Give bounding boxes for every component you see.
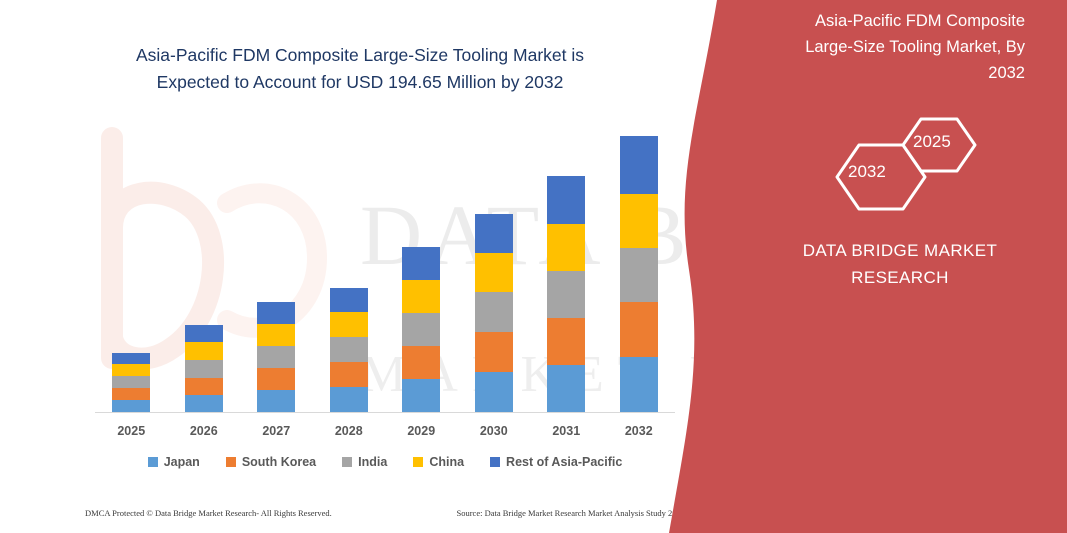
bar-segment bbox=[620, 248, 658, 302]
footer-source: Source: Data Bridge Market Research Mark… bbox=[456, 508, 685, 518]
chart-title-line2: Expected to Account for USD 194.65 Milli… bbox=[60, 69, 660, 96]
x-axis-tick-2030: 2030 bbox=[458, 424, 531, 438]
stacked-bar-2032[interactable] bbox=[620, 136, 658, 412]
legend-label: India bbox=[358, 455, 387, 469]
stacked-bar-2026[interactable] bbox=[185, 325, 223, 412]
hexagon-front-label: 2025 bbox=[913, 132, 951, 152]
bar-segment bbox=[257, 390, 295, 412]
bar-slot bbox=[603, 120, 676, 412]
x-axis-tick-2028: 2028 bbox=[313, 424, 386, 438]
bar-segment bbox=[547, 365, 585, 412]
bar-slot bbox=[458, 120, 531, 412]
x-axis-labels: 20252026202720282029203020312032 bbox=[95, 424, 675, 438]
bar-segment bbox=[330, 362, 368, 387]
x-axis-tick-2026: 2026 bbox=[168, 424, 241, 438]
bar-segment bbox=[620, 302, 658, 357]
chart-title: Asia-Pacific FDM Composite Large-Size To… bbox=[60, 42, 660, 96]
bar-segment bbox=[547, 224, 585, 271]
bar-segment bbox=[547, 271, 585, 318]
legend-label: South Korea bbox=[242, 455, 316, 469]
bar-segment bbox=[257, 324, 295, 346]
x-axis-tick-2032: 2032 bbox=[603, 424, 676, 438]
bar-segment bbox=[475, 332, 513, 372]
bar-segment bbox=[185, 395, 223, 412]
bar-segment bbox=[620, 194, 658, 248]
panel-title: Asia-Pacific FDM Composite Large-Size To… bbox=[735, 8, 1025, 86]
bar-segment bbox=[257, 368, 295, 390]
legend-swatch-icon bbox=[342, 457, 352, 467]
bar-segment bbox=[112, 400, 150, 412]
bar-segment bbox=[475, 214, 513, 253]
panel-title-line1: Asia-Pacific FDM Composite bbox=[735, 8, 1025, 34]
stacked-bar-2025[interactable] bbox=[112, 353, 150, 412]
x-axis-tick-2031: 2031 bbox=[530, 424, 603, 438]
brand-line2: RESEARCH bbox=[755, 264, 1045, 291]
legend-label: China bbox=[429, 455, 464, 469]
bar-slot bbox=[530, 120, 603, 412]
brand-line1: DATA BRIDGE MARKET bbox=[755, 237, 1045, 264]
legend-label: Rest of Asia-Pacific bbox=[506, 455, 622, 469]
legend-item[interactable]: Rest of Asia-Pacific bbox=[490, 455, 622, 469]
bar-segment bbox=[620, 136, 658, 194]
bar-segment bbox=[402, 313, 440, 346]
hexagon-badges: 2032 2025 bbox=[815, 105, 995, 215]
hexagon-outlines-icon bbox=[815, 105, 995, 215]
bar-segment bbox=[112, 353, 150, 364]
bar-slot bbox=[313, 120, 386, 412]
legend-swatch-icon bbox=[148, 457, 158, 467]
bar-segment bbox=[185, 360, 223, 378]
chart-legend: JapanSouth KoreaIndiaChinaRest of Asia-P… bbox=[95, 455, 675, 469]
legend-swatch-icon bbox=[226, 457, 236, 467]
stacked-bar-2029[interactable] bbox=[402, 247, 440, 412]
bar-segment bbox=[112, 388, 150, 400]
x-axis-line bbox=[95, 412, 675, 413]
bar-slot bbox=[95, 120, 168, 412]
stacked-bar-2031[interactable] bbox=[547, 176, 585, 412]
bar-segment bbox=[475, 292, 513, 332]
bar-segment bbox=[475, 253, 513, 292]
chart-title-line1: Asia-Pacific FDM Composite Large-Size To… bbox=[60, 42, 660, 69]
brand-name: DATA BRIDGE MARKET RESEARCH bbox=[755, 237, 1045, 291]
bar-segment bbox=[330, 312, 368, 337]
x-axis-tick-2025: 2025 bbox=[95, 424, 168, 438]
bar-segment bbox=[402, 247, 440, 280]
bar-slot bbox=[240, 120, 313, 412]
panel-title-line3: 2032 bbox=[735, 60, 1025, 86]
bar-segment bbox=[185, 378, 223, 395]
bar-segment bbox=[257, 302, 295, 324]
bar-segment bbox=[402, 346, 440, 379]
bar-segment bbox=[402, 379, 440, 412]
bar-segment bbox=[112, 364, 150, 376]
footer-copyright: DMCA Protected © Data Bridge Market Rese… bbox=[85, 508, 332, 518]
legend-item[interactable]: South Korea bbox=[226, 455, 316, 469]
legend-item[interactable]: Japan bbox=[148, 455, 200, 469]
bar-segment bbox=[547, 318, 585, 365]
bar-segment bbox=[475, 372, 513, 412]
bar-segment bbox=[185, 325, 223, 342]
bar-segment bbox=[330, 387, 368, 412]
footer: DMCA Protected © Data Bridge Market Rese… bbox=[85, 508, 685, 518]
stacked-bar-2027[interactable] bbox=[257, 302, 295, 412]
legend-label: Japan bbox=[164, 455, 200, 469]
stacked-bar-2030[interactable] bbox=[475, 214, 513, 412]
bar-segment bbox=[185, 342, 223, 360]
bar-segment bbox=[112, 376, 150, 388]
bar-segment bbox=[402, 280, 440, 313]
x-axis-tick-2029: 2029 bbox=[385, 424, 458, 438]
bar-segment bbox=[620, 357, 658, 412]
panel-title-line2: Large-Size Tooling Market, By bbox=[735, 34, 1025, 60]
bar-slot bbox=[385, 120, 458, 412]
legend-item[interactable]: India bbox=[342, 455, 387, 469]
hexagon-back-label: 2032 bbox=[848, 162, 886, 182]
bar-segment bbox=[330, 288, 368, 312]
legend-item[interactable]: China bbox=[413, 455, 464, 469]
bar-segment bbox=[547, 176, 585, 224]
infographic-canvas: DATA BRIDGE MARKET RESEARCH Asia-Pacific… bbox=[0, 0, 1067, 533]
bar-segment bbox=[330, 337, 368, 362]
bar-segment bbox=[257, 346, 295, 368]
stacked-bar-2028[interactable] bbox=[330, 288, 368, 412]
legend-swatch-icon bbox=[413, 457, 423, 467]
bar-slot bbox=[168, 120, 241, 412]
x-axis-tick-2027: 2027 bbox=[240, 424, 313, 438]
bar-chart-plot bbox=[95, 120, 675, 412]
legend-swatch-icon bbox=[490, 457, 500, 467]
